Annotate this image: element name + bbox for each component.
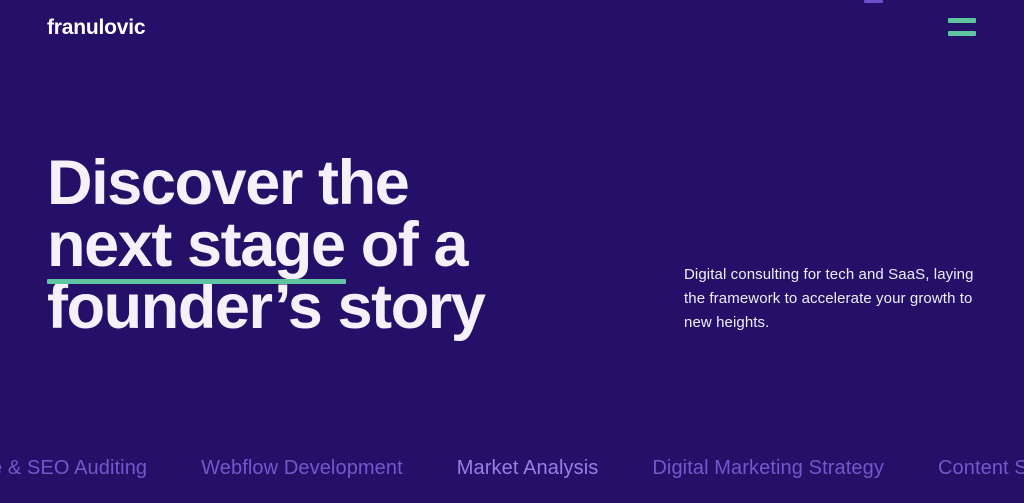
services-marquee[interactable]: e & SEO Auditing Webflow Development Mar…: [0, 432, 1024, 503]
hero-section: Discover the next stage of a founder’s s…: [0, 0, 1024, 432]
marquee-item-market-analysis[interactable]: Market Analysis: [430, 458, 626, 478]
hero-heading-line-3: founder’s story: [47, 276, 485, 338]
hero-heading: Discover the next stage of a founder’s s…: [47, 152, 485, 338]
brand-logo[interactable]: franulovic: [47, 17, 145, 38]
hero-subtext: Digital consulting for tech and SaaS, la…: [684, 263, 984, 335]
marquee-item-digital-marketing-strategy[interactable]: Digital Marketing Strategy: [625, 458, 911, 478]
hero-heading-line-2-rest: of a: [345, 210, 468, 280]
marquee-track: e & SEO Auditing Webflow Development Mar…: [0, 458, 1024, 478]
marquee-item-seo-auditing[interactable]: e & SEO Auditing: [0, 458, 174, 478]
marquee-item-content-strategy[interactable]: Content Strat: [911, 458, 1024, 478]
hero-heading-line-1: Discover the: [47, 152, 485, 214]
hamburger-bar-bottom: [948, 31, 976, 36]
hero-heading-highlight: next stage: [47, 214, 345, 276]
hero-heading-line-2: next stage of a: [47, 214, 485, 276]
hero-page: franulovic Discover the next stage of a …: [0, 0, 1024, 503]
marquee-item-webflow-development[interactable]: Webflow Development: [174, 458, 430, 478]
hamburger-menu-icon[interactable]: [948, 18, 976, 36]
site-header: franulovic: [0, 0, 1024, 54]
hamburger-bar-top: [948, 18, 976, 23]
